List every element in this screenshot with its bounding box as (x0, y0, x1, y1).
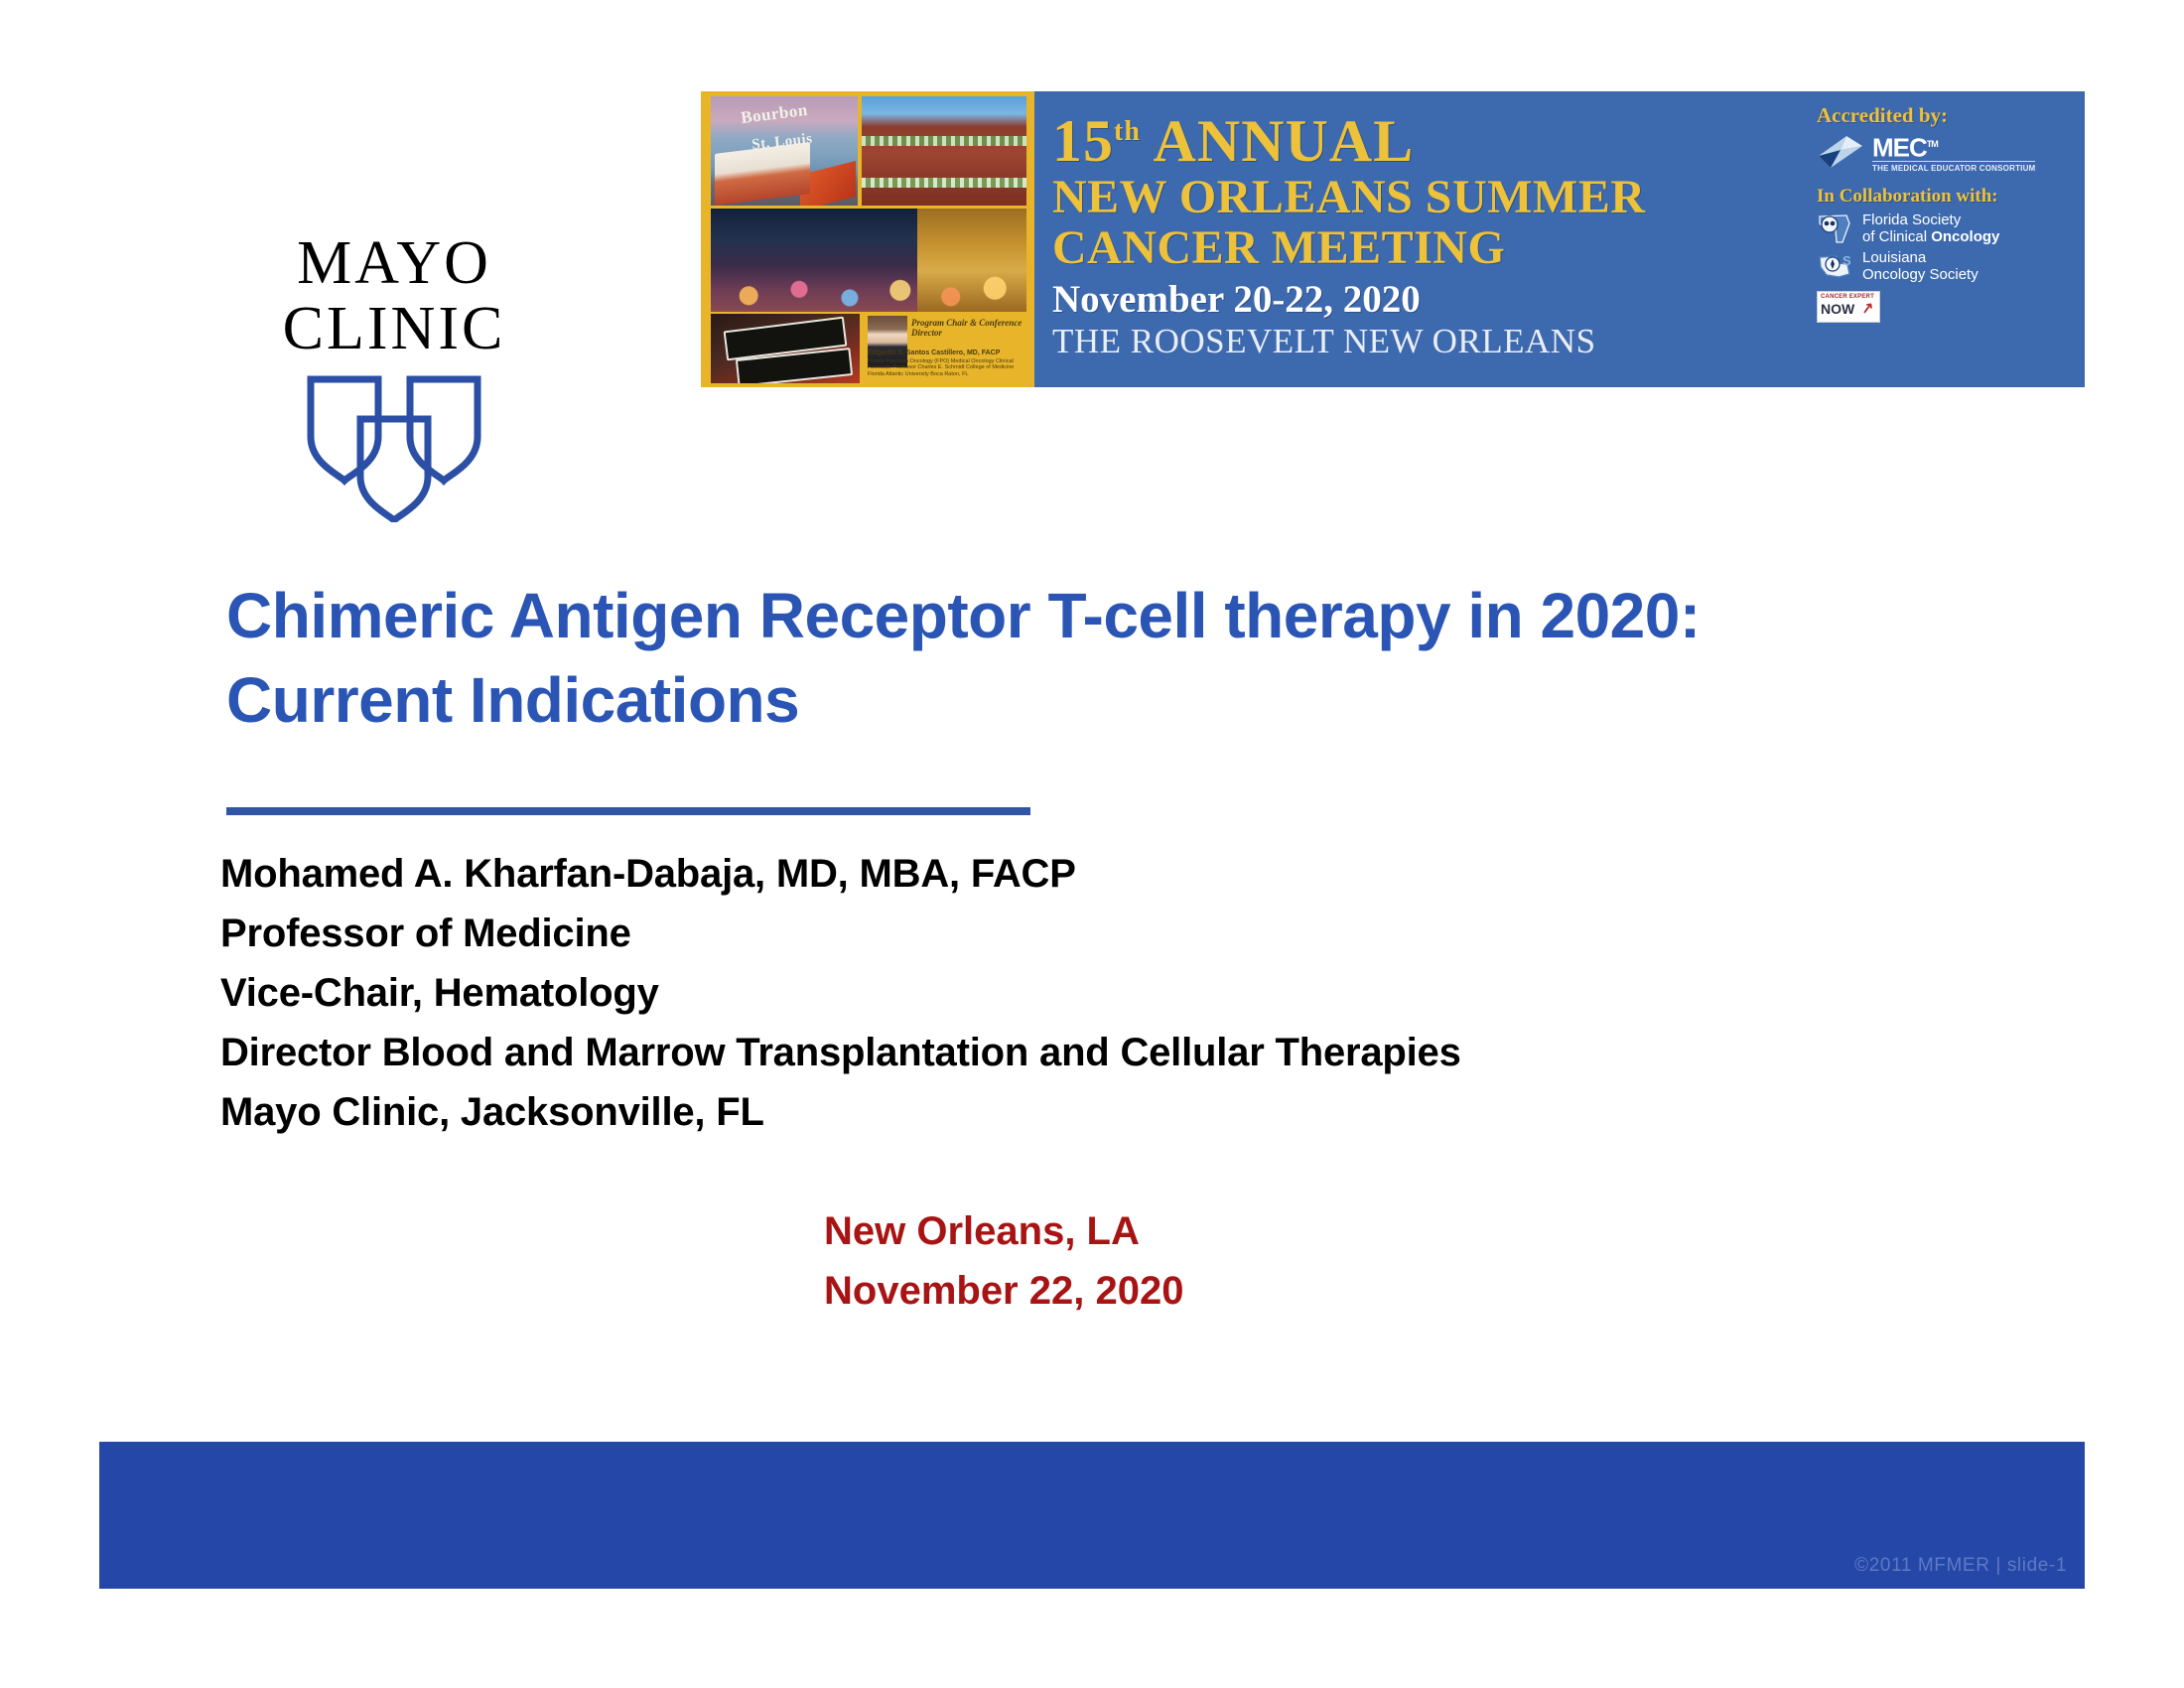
presenter-title: Professor of Medicine (220, 904, 2007, 963)
banner-line-2: NEW ORLEANS SUMMER (1052, 172, 1807, 222)
mec-word-text: MEC (1872, 133, 1927, 163)
banner-headline: 15th ANNUAL (1052, 101, 1807, 172)
louisiana-society-text: Louisiana Oncology Society (1862, 249, 1979, 283)
florida-society-row: Florida Society of Clinical Oncology (1817, 211, 2077, 245)
cancer-expert-now-bottom: NOW (1821, 302, 1854, 316)
title-divider-rule (226, 807, 1030, 815)
accredited-by-label: Accredited by: (1817, 103, 2077, 127)
banner-date: November 20-22, 2020 (1052, 277, 1807, 322)
mayo-clinic-logo: MAYO CLINIC (250, 230, 538, 528)
presenter-role: Vice-Chair, Hematology (220, 963, 2007, 1023)
mec-wordmark: MECTM THE MEDICAL EDUCATOR CONSORTIUM (1872, 131, 2035, 174)
florida-society-line2-thin: of Clinical (1862, 228, 1931, 245)
banner-main-text: 15th ANNUAL NEW ORLEANS SUMMER CANCER ME… (1034, 91, 1807, 387)
presenter-institution: Mayo Clinic, Jacksonville, FL (220, 1082, 2007, 1142)
banner-headline-ordinal: 15 (1052, 108, 1114, 174)
french-quarter-balcony-photo (862, 96, 1026, 206)
svg-text:S: S (1843, 253, 1851, 268)
presenter-directorship: Director Blood and Marrow Transplantatio… (220, 1023, 2007, 1082)
louisiana-society-line1: Louisiana (1862, 249, 1979, 266)
florida-society-text: Florida Society of Clinical Oncology (1862, 211, 1999, 245)
banner-headline-word: ANNUAL (1141, 108, 1414, 174)
banner-venue: THE ROOSEVELT NEW ORLEANS (1052, 322, 1807, 361)
presenter-block: Mohamed A. Kharfan-Dabaja, MD, MBA, FACP… (220, 844, 2007, 1142)
mec-chevron-icon (1817, 134, 1868, 170)
cancer-expert-now-badge: CANCER EXPERT NOW ↗ (1817, 291, 1880, 323)
louisiana-society-line2: Oncology Society (1862, 266, 1979, 283)
banner-photo-collage: Bourbon St. Louis Program Chair & Confer… (701, 91, 1034, 387)
copyright-slide-note: ©2011 MFMER | slide-1 (1854, 1555, 2067, 1577)
conference-banner: Bourbon St. Louis Program Chair & Confer… (701, 91, 2085, 387)
florida-society-line2: of Clinical Oncology (1862, 228, 1999, 245)
mayo-wordmark-line2: CLINIC (250, 296, 538, 361)
program-chair-affiliation: Florida Precision Oncology (FPO) Medical… (868, 358, 1023, 377)
banner-accreditation-panel: Accredited by: MECTM THE MEDICAL EDUCATO… (1807, 91, 2085, 387)
event-city: New Orleans, LA (824, 1201, 1717, 1261)
bourbon-street-sign-photo (711, 314, 860, 383)
mec-logo-row: MECTM THE MEDICAL EDUCATOR CONSORTIUM (1817, 131, 2077, 174)
mayo-wordmark-line1: MAYO (250, 230, 538, 296)
arrow-up-right-icon: ↗ (1860, 298, 1875, 318)
footer-bar: ©2011 MFMER | slide-1 (99, 1442, 2085, 1589)
mec-tm: TM (1927, 139, 1938, 149)
mec-word: MECTM (1872, 131, 2035, 161)
program-chair-card: Program Chair & Conference Director Edga… (864, 314, 1026, 383)
slide-title: Chimeric Antigen Receptor T-cell therapy… (226, 574, 1914, 743)
event-location-block: New Orleans, LA November 22, 2020 (824, 1201, 1717, 1321)
event-date: November 22, 2020 (824, 1261, 1717, 1321)
mec-subtitle: THE MEDICAL EDUCATOR CONSORTIUM (1872, 161, 2035, 174)
florida-society-line2-bold: Oncology (1931, 228, 1999, 245)
presenter-name: Mohamed A. Kharfan-Dabaja, MD, MBA, FACP (220, 844, 2007, 904)
florida-society-line1: Florida Society (1862, 211, 1999, 228)
program-chair-name: Edgardo S. Santos Castillero, MD, FACP (868, 350, 1023, 357)
bourbon-street-night-photo (711, 209, 1026, 312)
program-chair-role: Program Chair & Conference Director (911, 318, 1023, 338)
banner-headline-suffix: th (1114, 116, 1141, 147)
banner-line-3: CANCER MEETING (1052, 222, 1807, 273)
collaboration-label: In Collaboration with: (1817, 186, 2077, 208)
louisiana-society-row: S Louisiana Oncology Society (1817, 249, 2077, 283)
florida-state-outline-icon (1817, 211, 1856, 245)
louisiana-state-outline-icon: S (1817, 249, 1856, 283)
mayo-three-shields-icon (295, 371, 493, 522)
